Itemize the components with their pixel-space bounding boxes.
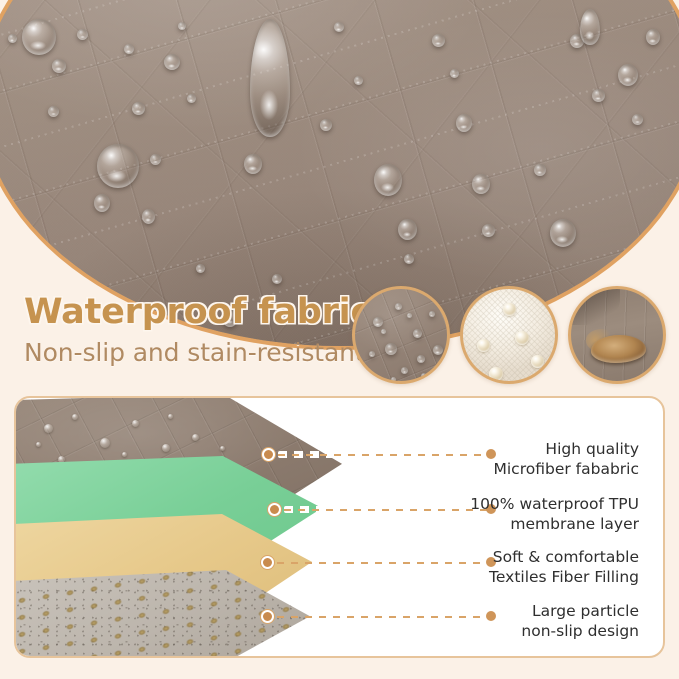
water-droplet: [77, 29, 88, 40]
water-droplet: [168, 414, 173, 419]
layer-diagram-card: High quality Microfiber fababric 100% wa…: [14, 396, 665, 658]
connector-node-3: [261, 556, 274, 569]
connector-line-2: [284, 509, 490, 511]
connector-line-3: [277, 562, 490, 564]
connector-line-1: [278, 454, 490, 456]
water-droplet: [272, 274, 282, 284]
water-droplet: [178, 22, 186, 30]
connector-enddot-4: [486, 611, 496, 621]
water-droplet: [132, 102, 145, 115]
water-droplet: [433, 345, 443, 355]
heading-block: Waterproof fabric Non-slip and stain-res…: [24, 294, 371, 366]
water-droplet: [72, 414, 78, 420]
water-droplet: [124, 44, 134, 54]
circle-coffee-spill-resist: [568, 286, 666, 384]
water-droplet: [142, 209, 155, 224]
water-droplet: [44, 424, 53, 433]
circle-water-beading-cream: [460, 286, 558, 384]
water-droplet: [381, 329, 386, 334]
water-droplet: [374, 164, 402, 196]
coffee-spill-pool: [591, 335, 646, 363]
infographic-stage: Waterproof fabric Non-slip and stain-res…: [0, 0, 679, 679]
water-droplet: [531, 355, 544, 368]
water-droplet: [150, 154, 161, 165]
water-droplet: [534, 164, 546, 176]
water-droplet: [320, 119, 332, 131]
water-droplet: [646, 29, 660, 45]
water-droplet: [632, 114, 643, 125]
water-droplet: [618, 64, 638, 86]
layer-label-tpu: 100% waterproof TPU membrane layer: [470, 494, 639, 535]
water-droplet: [580, 9, 600, 45]
water-droplet: [421, 373, 427, 379]
water-droplet: [36, 442, 41, 447]
connector-line-4: [277, 616, 490, 618]
water-droplet: [404, 254, 414, 264]
connector-node-1: [262, 448, 275, 461]
water-droplet: [192, 434, 199, 441]
water-droplet: [334, 22, 344, 32]
water-droplet: [196, 264, 205, 273]
water-droplet: [429, 311, 435, 317]
water-droplet: [122, 452, 127, 457]
water-droplet: [22, 19, 56, 55]
page-subtitle: Non-slip and stain-resistant: [24, 339, 371, 367]
water-droplet: [395, 303, 402, 310]
page-title: Waterproof fabric: [24, 294, 371, 332]
water-droplet: [515, 331, 529, 345]
connector-node-4: [261, 610, 274, 623]
water-droplet: [244, 154, 262, 174]
water-droplet: [401, 367, 408, 374]
water-droplet: [220, 446, 225, 451]
water-droplet: [132, 420, 139, 427]
layer-label-fiber-fill: Soft & comfortable Textiles Fiber Fillin…: [489, 547, 639, 588]
water-droplet: [100, 438, 110, 448]
water-droplet: [52, 59, 66, 73]
water-droplet: [373, 317, 383, 327]
circle-water-beading-taupe: [352, 286, 450, 384]
water-droplet: [482, 224, 495, 237]
water-droplet: [97, 144, 139, 188]
water-droplet: [369, 351, 375, 357]
water-droplet: [398, 219, 417, 240]
circle-2-texture: [460, 286, 558, 384]
connector-node-2: [268, 503, 281, 516]
water-droplet: [162, 444, 170, 452]
water-droplet: [94, 194, 110, 212]
water-droplet: [450, 69, 459, 78]
water-droplet: [187, 94, 196, 103]
water-droplet: [489, 367, 503, 381]
water-droplet: [432, 34, 445, 47]
water-droplet: [417, 355, 425, 363]
water-droplet: [354, 76, 363, 85]
water-droplet: [407, 313, 412, 318]
water-droplet: [391, 377, 396, 382]
water-droplet: [472, 174, 490, 194]
feature-circle-row: [352, 286, 666, 384]
water-droplet: [456, 114, 472, 132]
water-droplet: [592, 89, 605, 102]
water-droplet: [164, 54, 180, 70]
water-droplet: [503, 303, 516, 316]
water-droplet: [385, 343, 397, 355]
water-droplet: [8, 34, 17, 43]
layer-label-nonslip: Large particle non-slip design: [521, 601, 639, 642]
water-droplet: [550, 219, 576, 247]
water-droplet: [477, 339, 490, 352]
water-droplet: [413, 329, 422, 338]
layer-label-microfiber: High quality Microfiber fababric: [494, 439, 640, 480]
water-droplet: [48, 106, 59, 117]
